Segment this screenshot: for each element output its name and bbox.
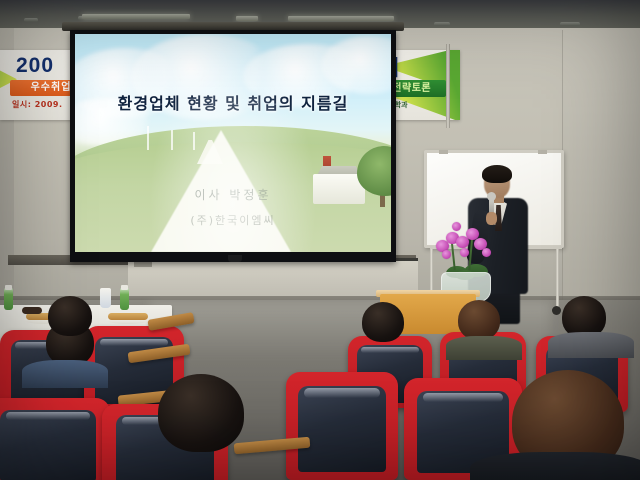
ceiling-light-fixture: [288, 16, 394, 21]
bottle-cap: [121, 285, 128, 290]
slide-presenter: 이사 박정훈: [75, 186, 391, 203]
projection-screen: 환경업체 현황 및 취업의 지름길 이사 박정훈 (주)한국이엠씨: [70, 30, 396, 262]
ceiling-strip: [560, 22, 580, 26]
ceiling-strip: [434, 22, 450, 26]
paper-cup: [100, 288, 111, 308]
audience-shoulders: [446, 336, 522, 360]
speaker-hand: [486, 212, 497, 225]
orchid-bloom: [452, 222, 461, 231]
chair-highlight: [423, 393, 503, 402]
whiteboard-leg: [556, 246, 559, 314]
right-wall-panel: [562, 30, 640, 320]
audience-shoulders: [22, 360, 108, 388]
microphone-head-icon: [487, 192, 496, 201]
chair-highlight: [100, 339, 168, 347]
speaker-hair: [482, 165, 512, 183]
ceiling-light-fixture: [236, 16, 258, 21]
whiteboard-caster: [552, 306, 561, 315]
whiteboard-clip: [538, 150, 547, 154]
auditorium-chair[interactable]: [0, 398, 110, 480]
ceiling-light-fixture: [82, 14, 190, 19]
orchid-bloom: [482, 248, 491, 257]
slide-title: 환경업체 현황 및 취업의 지름길: [75, 90, 391, 114]
ceiling-strip: [24, 18, 38, 22]
photo-scene: 200 우수취업 일시: 2009. 수회 취업전략토론 학교 환경공학과: [0, 0, 640, 480]
auditorium-chair[interactable]: [286, 372, 398, 480]
screen-pull-knob: [228, 255, 242, 262]
beverage-bottle: [120, 288, 129, 310]
audience-head: [48, 296, 92, 336]
audience-head-foreground: [158, 374, 244, 452]
audience-shoulders: [470, 452, 640, 480]
banner-support-pole: [446, 44, 450, 128]
chair-highlight: [6, 412, 90, 420]
fence-post: [147, 126, 149, 150]
audience-head: [362, 302, 404, 342]
snack-food: [108, 313, 148, 320]
chair-highlight: [361, 347, 418, 353]
snack-food: [22, 307, 42, 314]
audience-shoulders: [548, 332, 634, 358]
slide-company: (주)한국이엠씨: [75, 212, 391, 228]
orchid-bloom: [442, 250, 451, 259]
chair-pad: [0, 410, 96, 480]
board-label-tag: [134, 262, 152, 267]
banner-year-text: 200: [16, 54, 54, 78]
banner-date-text: 일시: 2009.: [12, 99, 63, 110]
chair-pad: [298, 386, 385, 472]
beverage-bottle: [4, 288, 13, 310]
presentation-slide: 환경업체 현황 및 취업의 지름길 이사 박정훈 (주)한국이엠씨: [75, 34, 391, 252]
audience-head: [458, 300, 500, 340]
orchid-bloom: [460, 248, 469, 257]
whiteboard-clip: [439, 150, 448, 154]
bottle-cap: [5, 285, 12, 290]
chair-highlight: [304, 388, 380, 398]
